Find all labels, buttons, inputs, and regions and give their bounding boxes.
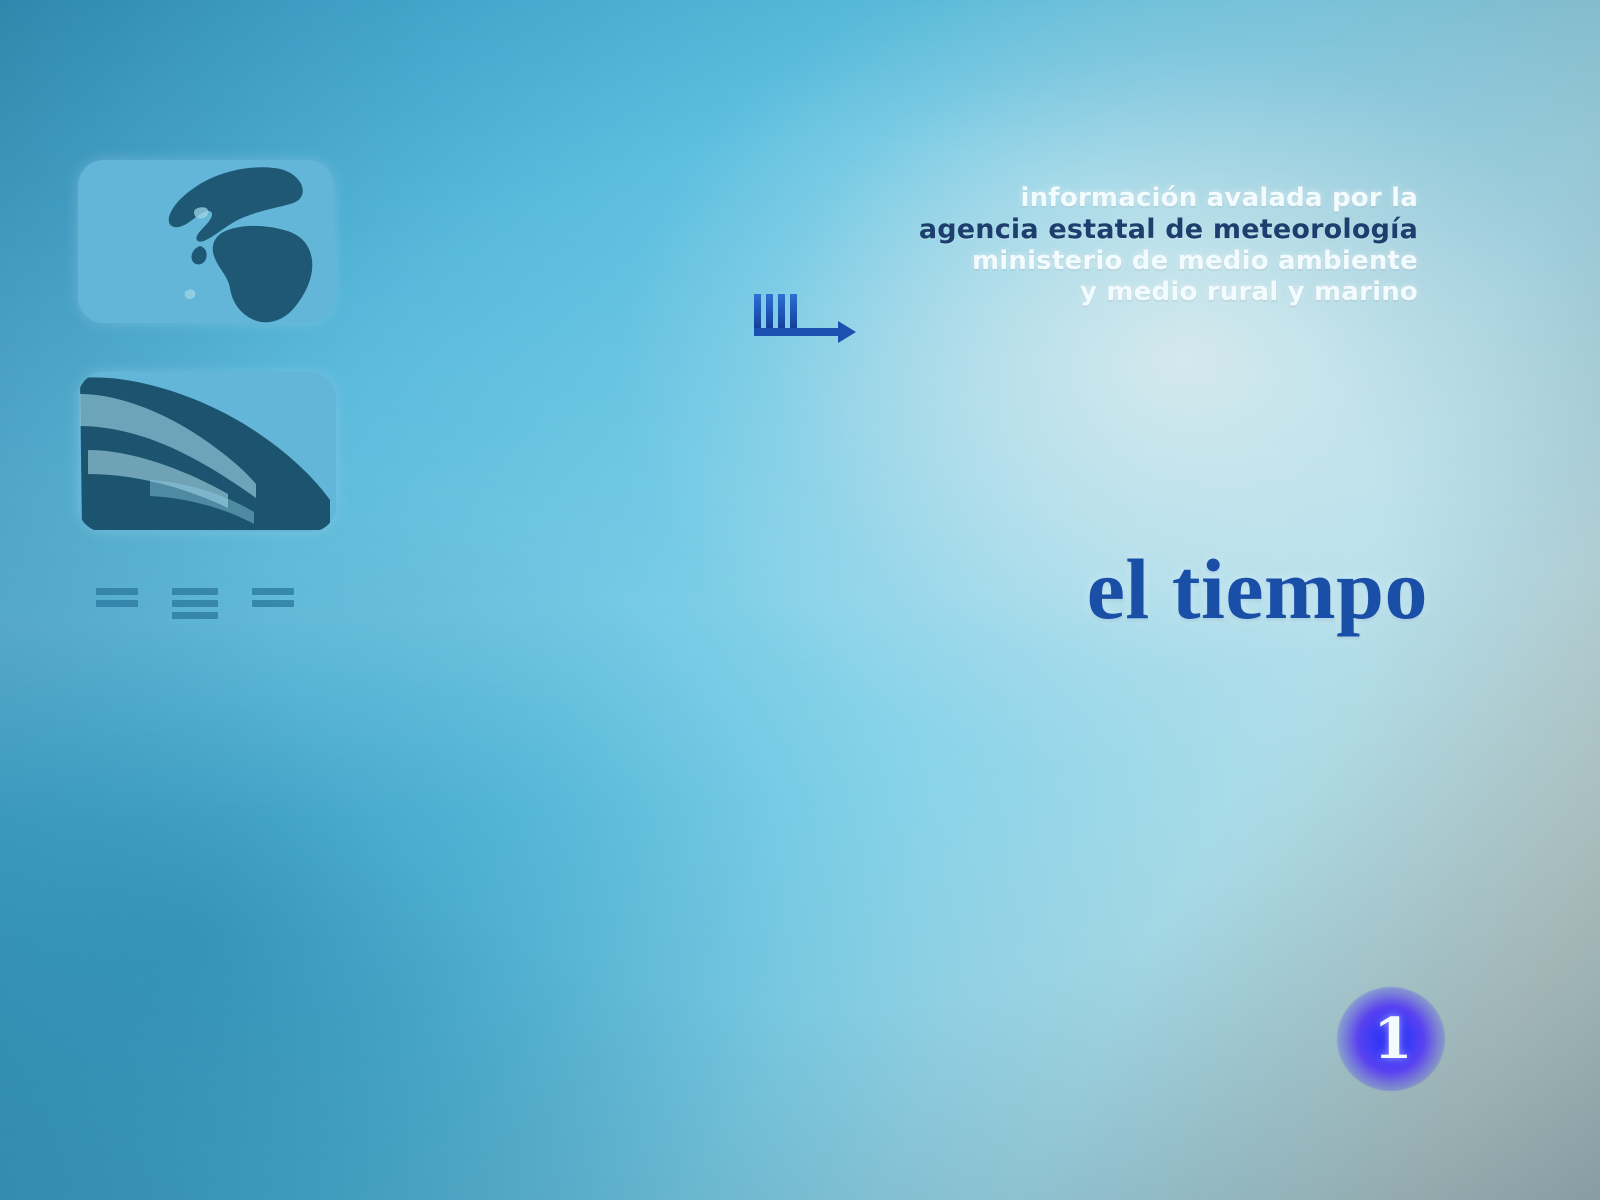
americas-map-icon	[78, 160, 334, 323]
endorsement-line-1: información avalada por la	[858, 183, 1418, 214]
swoosh-tile	[78, 372, 336, 532]
dash	[172, 612, 218, 619]
endorsement-text-block: información avalada por la agencia estat…	[858, 183, 1418, 308]
dash	[96, 600, 138, 607]
dash	[172, 600, 218, 607]
channel-bug-label: 1	[1337, 987, 1445, 1091]
dash	[96, 588, 138, 595]
endorsement-line-4: y medio rural y marino	[858, 277, 1418, 308]
aemet-bars-arrow-mark	[752, 291, 862, 347]
weather-broadcast-title-card: información avalada por la agencia estat…	[0, 0, 1600, 1200]
endorsement-line-2: agencia estatal de meteorología	[858, 214, 1418, 246]
cloud-swoosh-icon	[78, 372, 336, 532]
dash-group-3	[252, 588, 294, 607]
logo-dash-rule	[96, 588, 294, 619]
world-map-tile	[78, 160, 334, 323]
dash-group-2	[172, 588, 218, 619]
program-title: el tiempo	[1087, 546, 1428, 632]
bar-chart-arrow-icon	[752, 291, 862, 347]
dash	[252, 600, 294, 607]
channel-bug: 1	[1337, 987, 1445, 1091]
dash	[172, 588, 218, 595]
dash-group-1	[96, 588, 138, 607]
endorsement-line-3: ministerio de medio ambiente	[858, 246, 1418, 277]
aemet-stacked-logo	[78, 160, 338, 630]
dash	[252, 588, 294, 595]
